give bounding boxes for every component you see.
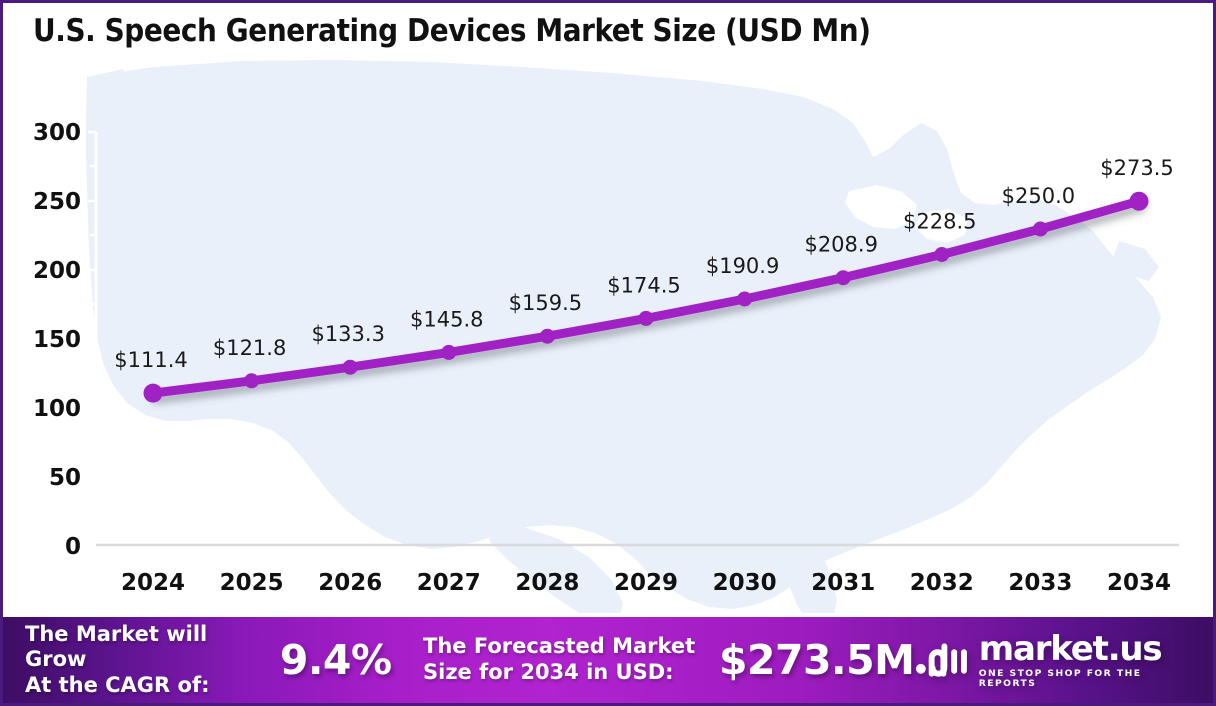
- x-tick-label: 2027: [417, 570, 481, 596]
- market-us-logo-icon: [915, 638, 970, 682]
- data-point-marker[interactable]: [144, 384, 163, 403]
- forecast-label-line2: Size for 2034 in USD:: [423, 660, 717, 686]
- x-tick-label: 2030: [713, 570, 777, 596]
- logo-name: market.us: [979, 632, 1162, 666]
- data-point-label: $145.8: [410, 307, 483, 331]
- forecast-label: The Forecasted Market Size for 2034 in U…: [423, 634, 717, 685]
- y-tick-label: 150: [33, 327, 81, 353]
- forecast-value: $273.5M: [719, 636, 915, 684]
- data-point-label: $208.9: [804, 233, 877, 257]
- data-point-label: $250.0: [1002, 184, 1075, 208]
- y-tick-label: 250: [33, 189, 81, 215]
- x-tick-label: 2024: [121, 570, 185, 596]
- x-tick-label: 2032: [910, 570, 974, 596]
- x-tick-label: 2031: [811, 570, 875, 596]
- data-point-label: $111.4: [114, 348, 187, 372]
- y-tick-label: 0: [65, 534, 81, 560]
- data-point-label: $174.5: [607, 273, 680, 297]
- data-point-marker[interactable]: [540, 329, 555, 344]
- x-tick-labels: 2024202520262027202820292030203120322033…: [121, 570, 1171, 596]
- logo-tagline: ONE STOP SHOP FOR THE REPORTS: [979, 669, 1199, 687]
- data-point-marker[interactable]: [244, 373, 259, 388]
- x-tick-label: 2029: [614, 570, 678, 596]
- cagr-value: 9.4%: [280, 636, 417, 684]
- footer-stats-bar: The Market will Grow At the CAGR of: 9.4…: [3, 617, 1213, 703]
- data-point-marker[interactable]: [1130, 192, 1149, 211]
- cagr-label-line2: At the CAGR of:: [25, 673, 276, 699]
- y-tick-label: 200: [33, 258, 81, 284]
- logo-wordmark: market.us ONE STOP SHOP FOR THE REPORTS: [979, 632, 1199, 687]
- data-point-label: $190.9: [706, 254, 779, 278]
- y-tick-label: 50: [49, 465, 81, 491]
- x-tick-label: 2026: [318, 570, 382, 596]
- data-point-marker[interactable]: [737, 292, 752, 307]
- x-tick-label: 2025: [220, 570, 284, 596]
- cagr-label-line1: The Market will Grow: [25, 622, 276, 673]
- data-point-marker[interactable]: [934, 247, 949, 262]
- data-point-label: $133.3: [311, 322, 384, 346]
- chart-infographic: U.S. Speech Generating Devices Market Si…: [0, 0, 1216, 706]
- line-chart-plot: 300 250 200 150 100 50 0 $111.4$121.8$13…: [3, 53, 1213, 613]
- data-point-marker[interactable]: [441, 345, 456, 360]
- data-point-marker[interactable]: [1033, 222, 1048, 237]
- y-tick-label: 300: [33, 120, 81, 146]
- data-point-label: $228.5: [903, 210, 976, 234]
- data-point-marker[interactable]: [836, 270, 851, 285]
- y-tick-labels: 300 250 200 150 100 50 0: [33, 120, 81, 560]
- data-point-label: $121.8: [213, 336, 286, 360]
- x-tick-label: 2028: [515, 570, 579, 596]
- data-point-label: $159.5: [509, 291, 582, 315]
- y-tick-label: 100: [33, 396, 81, 422]
- data-point-marker[interactable]: [639, 311, 654, 326]
- forecast-label-line1: The Forecasted Market: [423, 634, 717, 660]
- cagr-label: The Market will Grow At the CAGR of:: [25, 622, 276, 699]
- page-title: U.S. Speech Generating Devices Market Si…: [33, 13, 871, 49]
- market-us-logo[interactable]: market.us ONE STOP SHOP FOR THE REPORTS: [915, 632, 1199, 687]
- data-point-label: $273.5: [1100, 156, 1173, 180]
- data-point-marker[interactable]: [343, 360, 358, 375]
- x-tick-label: 2033: [1008, 570, 1072, 596]
- x-tick-label: 2034: [1107, 570, 1171, 596]
